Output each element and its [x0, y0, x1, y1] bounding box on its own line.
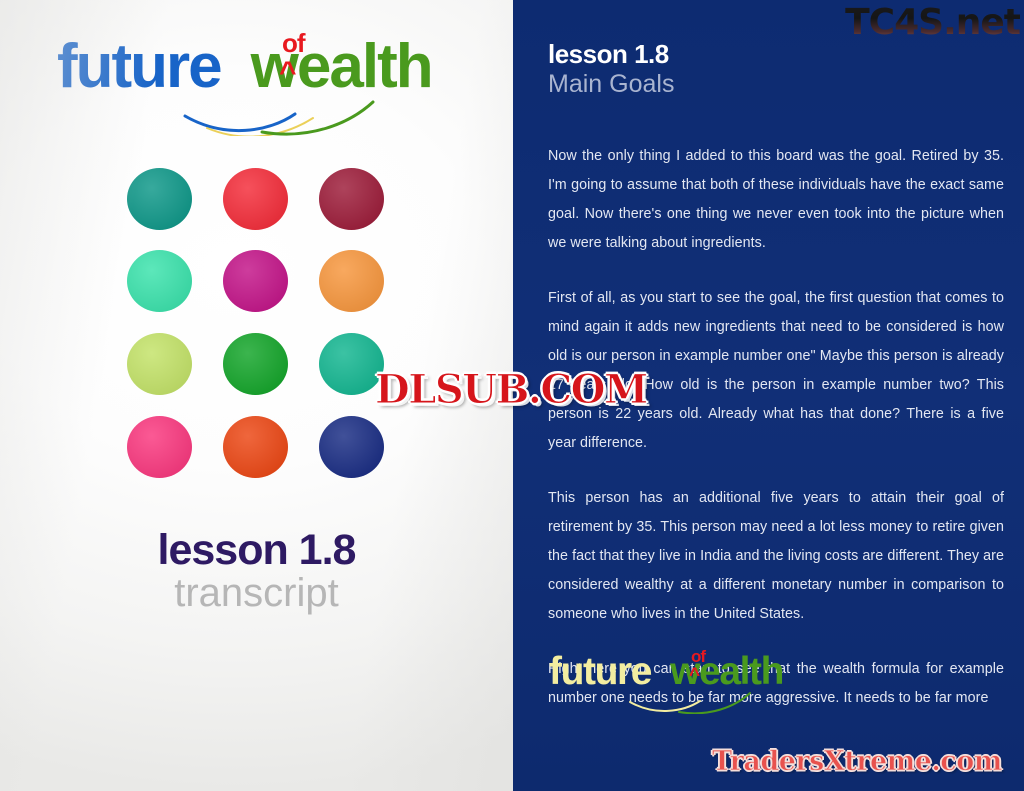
color-swatch-mint-green: [127, 250, 192, 312]
brand-wordmark-bottom: futurewealth: [549, 652, 809, 691]
color-swatch-grid: [127, 168, 385, 480]
color-swatch-navy-blue: [319, 416, 384, 478]
brand-word-future: future: [549, 650, 651, 693]
right-header: lesson 1.8 Main Goals: [548, 40, 674, 99]
brand-word-wealth: wealth: [670, 650, 783, 693]
color-swatch-red: [223, 168, 288, 230]
color-swatch-orange-red: [223, 416, 288, 478]
color-swatch-yellow-green: [127, 333, 192, 395]
brand-word-wealth: wealth: [251, 32, 432, 101]
color-swatch-green: [223, 333, 288, 395]
brand-logo-top: futurewealth of ^: [57, 36, 467, 136]
brand-caret-icon: ^: [279, 58, 297, 88]
transcript-paragraph: Now the only thing I added to this board…: [548, 142, 1004, 258]
color-swatch-teal: [127, 168, 192, 230]
left-lesson-block: lesson 1.8 transcript: [0, 528, 513, 615]
color-swatch-maroon: [319, 168, 384, 230]
page-subtitle: Main Goals: [548, 70, 674, 99]
watermark-tc4s: TC4S.net: [845, 2, 1020, 43]
color-swatch-pink: [127, 416, 192, 478]
brand-logo-bottom: futurewealth of ^: [549, 652, 809, 714]
brand-caret-icon: ^: [689, 666, 700, 685]
color-swatch-magenta: [223, 250, 288, 312]
brand-word-of: of: [282, 30, 305, 56]
watermark-dlsub: DLSUB.COM: [375, 366, 647, 413]
page-title: lesson 1.8: [548, 40, 674, 69]
brand-word-of: of: [691, 648, 705, 665]
left-lesson-subtitle: transcript: [0, 571, 513, 615]
watermark-tradersxtreme: TradersXtreme.com: [712, 746, 1002, 777]
left-lesson-title: lesson 1.8: [0, 528, 513, 573]
transcript-text: Now the only thing I added to this board…: [548, 142, 1004, 713]
brand-wordmark: futurewealth: [57, 36, 467, 98]
slide-page: futurewealth of ^: [0, 0, 1024, 791]
brand-word-future: future: [57, 32, 221, 101]
color-swatch-orange: [319, 250, 384, 312]
transcript-paragraph: This person has an additional five years…: [548, 484, 1004, 629]
